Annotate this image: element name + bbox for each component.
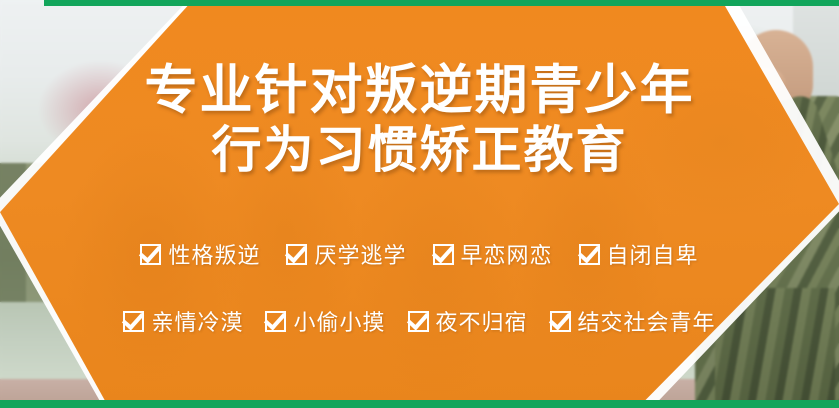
checklist-item-label: 小偷小摸	[293, 305, 385, 337]
checklist-item[interactable]: 早恋网恋	[433, 238, 553, 270]
checked-checkbox-icon[interactable]	[123, 311, 144, 332]
checked-checkbox-icon[interactable]	[579, 244, 600, 265]
checklist-item[interactable]: 厌学逃学	[286, 238, 406, 270]
promo-banner: 专业针对叛逆期青少年 行为习惯矫正教育 性格叛逆 厌学逃学 早恋网恋	[0, 0, 839, 408]
checklist-item-label: 亲情冷漠	[151, 305, 243, 337]
checklist-item-label: 夜不归宿	[436, 305, 528, 337]
checklist-item-label: 结交社会青年	[578, 305, 716, 337]
checked-checkbox-icon[interactable]	[433, 244, 454, 265]
checklist-item[interactable]: 夜不归宿	[408, 305, 528, 337]
checklist-item[interactable]: 结交社会青年	[550, 305, 716, 337]
checklist-item-label: 性格叛逆	[168, 238, 260, 270]
checked-checkbox-icon[interactable]	[408, 311, 429, 332]
checklist-item[interactable]: 亲情冷漠	[123, 305, 243, 337]
checklist-item-label: 早恋网恋	[461, 238, 553, 270]
checklist-row-1: 性格叛逆 厌学逃学 早恋网恋 自闭自卑	[0, 238, 839, 270]
checklist-row-2: 亲情冷漠 小偷小摸 夜不归宿 结交社会青年	[0, 305, 839, 337]
checklist-item-label: 自闭自卑	[607, 238, 699, 270]
checked-checkbox-icon[interactable]	[140, 244, 161, 265]
checked-checkbox-icon[interactable]	[550, 311, 571, 332]
banner-content: 专业针对叛逆期青少年 行为习惯矫正教育 性格叛逆 厌学逃学 早恋网恋	[0, 0, 839, 408]
checklist-item[interactable]: 性格叛逆	[140, 238, 260, 270]
headline-block: 专业针对叛逆期青少年 行为习惯矫正教育	[0, 62, 839, 177]
checklist-item-label: 厌学逃学	[314, 238, 406, 270]
headline-line-2: 行为习惯矫正教育	[0, 123, 839, 177]
checked-checkbox-icon[interactable]	[265, 311, 286, 332]
checklist-item[interactable]: 小偷小摸	[265, 305, 385, 337]
checklist-item[interactable]: 自闭自卑	[579, 238, 699, 270]
checklist: 性格叛逆 厌学逃学 早恋网恋 自闭自卑 亲情冷漠	[0, 238, 839, 337]
headline-line-1: 专业针对叛逆期青少年	[0, 62, 839, 119]
checked-checkbox-icon[interactable]	[286, 244, 307, 265]
